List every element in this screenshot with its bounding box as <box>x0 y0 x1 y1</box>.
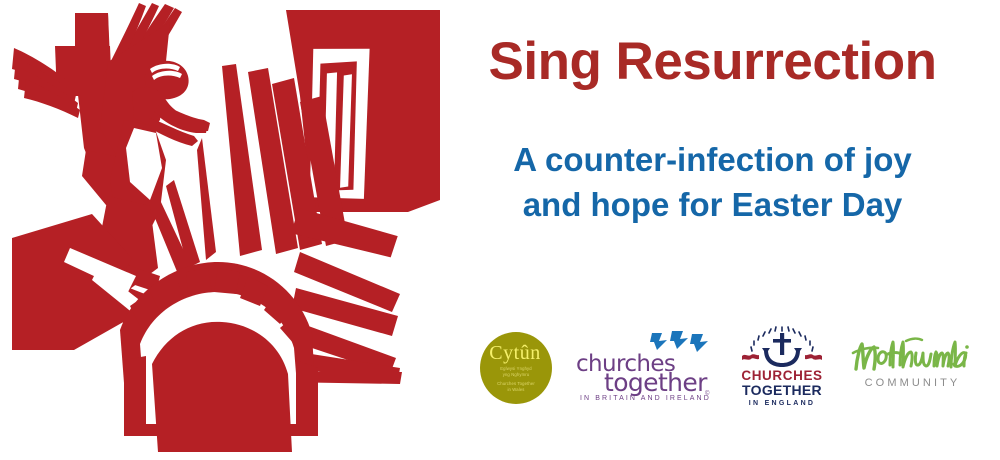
resurrection-papercut-illustration <box>0 0 440 460</box>
subtitle-line-2: and hope for Easter Day <box>440 183 985 228</box>
northumbria-community-word: COMMUNITY <box>853 377 972 389</box>
text-column: Sing Resurrection A counter-infection of… <box>440 0 1000 460</box>
cytun-tagline-line-1: Eglwysi Ynghyd <box>500 366 532 371</box>
page-title: Sing Resurrection <box>440 34 985 90</box>
cytun-wordmark: Cytûn <box>489 343 540 363</box>
cte-word-together: TOGETHER <box>736 383 828 398</box>
cytun-tagline-line-2: yng Nghymru <box>503 372 530 377</box>
northumbria-community-logo[interactable]: COMMUNITY <box>850 335 972 401</box>
cytun-tagline: Eglwysi Ynghyd yng Nghymru Churches Toge… <box>497 366 535 394</box>
anchor-cross-icon <box>736 326 828 368</box>
cte-region-text: IN ENGLAND <box>736 399 828 410</box>
cytun-tagline-line-4: in Wales <box>507 387 524 392</box>
northumbria-script-wordmark <box>850 335 972 379</box>
poster-canvas: Sing Resurrection A counter-infection of… <box>0 0 1000 460</box>
cte-word-churches: CHURCHES <box>736 368 828 383</box>
churches-together-england-logo[interactable]: CHURCHES TOGETHER IN ENGLAND <box>736 326 828 410</box>
partner-logo-strip: Cytûn Eglwysi Ynghyd yng Nghymru Churche… <box>480 318 1000 418</box>
subtitle-line-1: A counter-infection of joy <box>440 138 985 183</box>
cytun-logo[interactable]: Cytûn Eglwysi Ynghyd yng Nghymru Churche… <box>480 332 552 404</box>
ctbi-region-text: IN BRITAIN AND IRELAND <box>580 395 711 402</box>
ctbi-copyright-symbol: © <box>705 391 709 397</box>
page-subtitle: A counter-infection of joy and hope for … <box>440 138 985 228</box>
wave-accents <box>742 354 822 360</box>
ctbi-word-together: together <box>604 368 707 397</box>
cytun-tagline-line-3: Churches Together <box>497 381 535 386</box>
light-beam <box>197 138 216 260</box>
light-beam <box>290 207 400 257</box>
churches-together-britain-ireland-logo[interactable]: churches together IN BRITAIN AND IRELAND… <box>574 327 714 409</box>
